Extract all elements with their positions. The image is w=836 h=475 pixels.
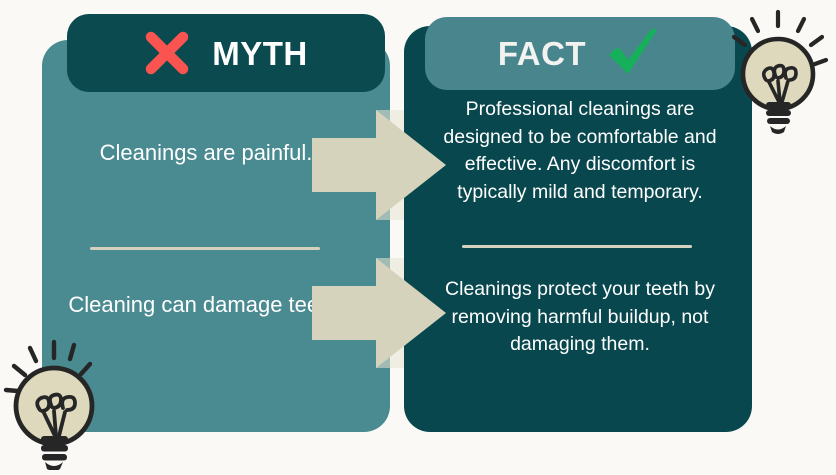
fact-divider	[462, 245, 692, 248]
myth-header-label: MYTH	[212, 37, 308, 70]
lightbulb-bottom-left	[2, 330, 124, 475]
infographic-canvas: MYTH Cleanings are painful. Cleaning can…	[0, 0, 836, 470]
fact-header-label: FACT	[498, 37, 586, 70]
check-mark-icon	[604, 28, 662, 80]
myth-divider	[90, 247, 320, 250]
fact-item-1-text: Professional cleanings are designed to b…	[432, 96, 728, 207]
lightbulb-top-right	[722, 2, 834, 143]
fact-header: FACT	[425, 17, 735, 90]
myth-item-2-text: Cleaning can damage teeth.	[56, 290, 356, 319]
x-mark-icon	[144, 30, 190, 76]
fact-item-2-text: Cleanings protect your teeth by removing…	[432, 276, 728, 359]
myth-header: MYTH	[67, 14, 385, 92]
myth-item-1-text: Cleanings are painful.	[56, 138, 356, 167]
